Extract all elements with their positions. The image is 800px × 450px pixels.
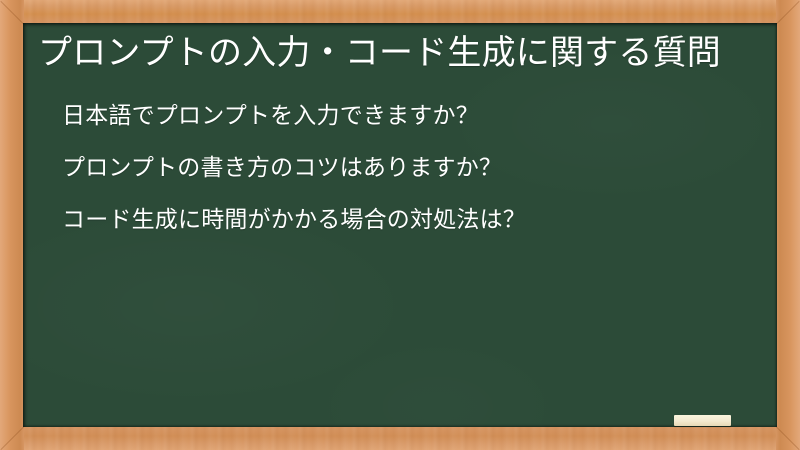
question-item: プロンプトの書き方のコツはありますか？ [62,157,755,180]
question-item: 日本語でプロンプトを入力できますか？ [62,105,755,128]
slide-title: プロンプトの入力・コード生成に関する質問 [38,31,755,75]
chalkboard-surface: プロンプトの入力・コード生成に関する質問 日本語でプロンプトを入力できますか？ … [23,23,777,427]
chalk-stick-icon [674,415,731,426]
frame-stile-left [0,0,24,450]
board-content: プロンプトの入力・コード生成に関する質問 日本語でプロンプトを入力できますか？ … [23,23,777,427]
question-item: コード生成に時間がかかる場合の対処法は？ [62,209,755,232]
question-list: 日本語でプロンプトを入力できますか？ プロンプトの書き方のコツはありますか？ コ… [38,105,755,232]
frame-stile-right [776,0,800,450]
chalkboard-slide: プロンプトの入力・コード生成に関する質問 日本語でプロンプトを入力できますか？ … [0,0,800,450]
